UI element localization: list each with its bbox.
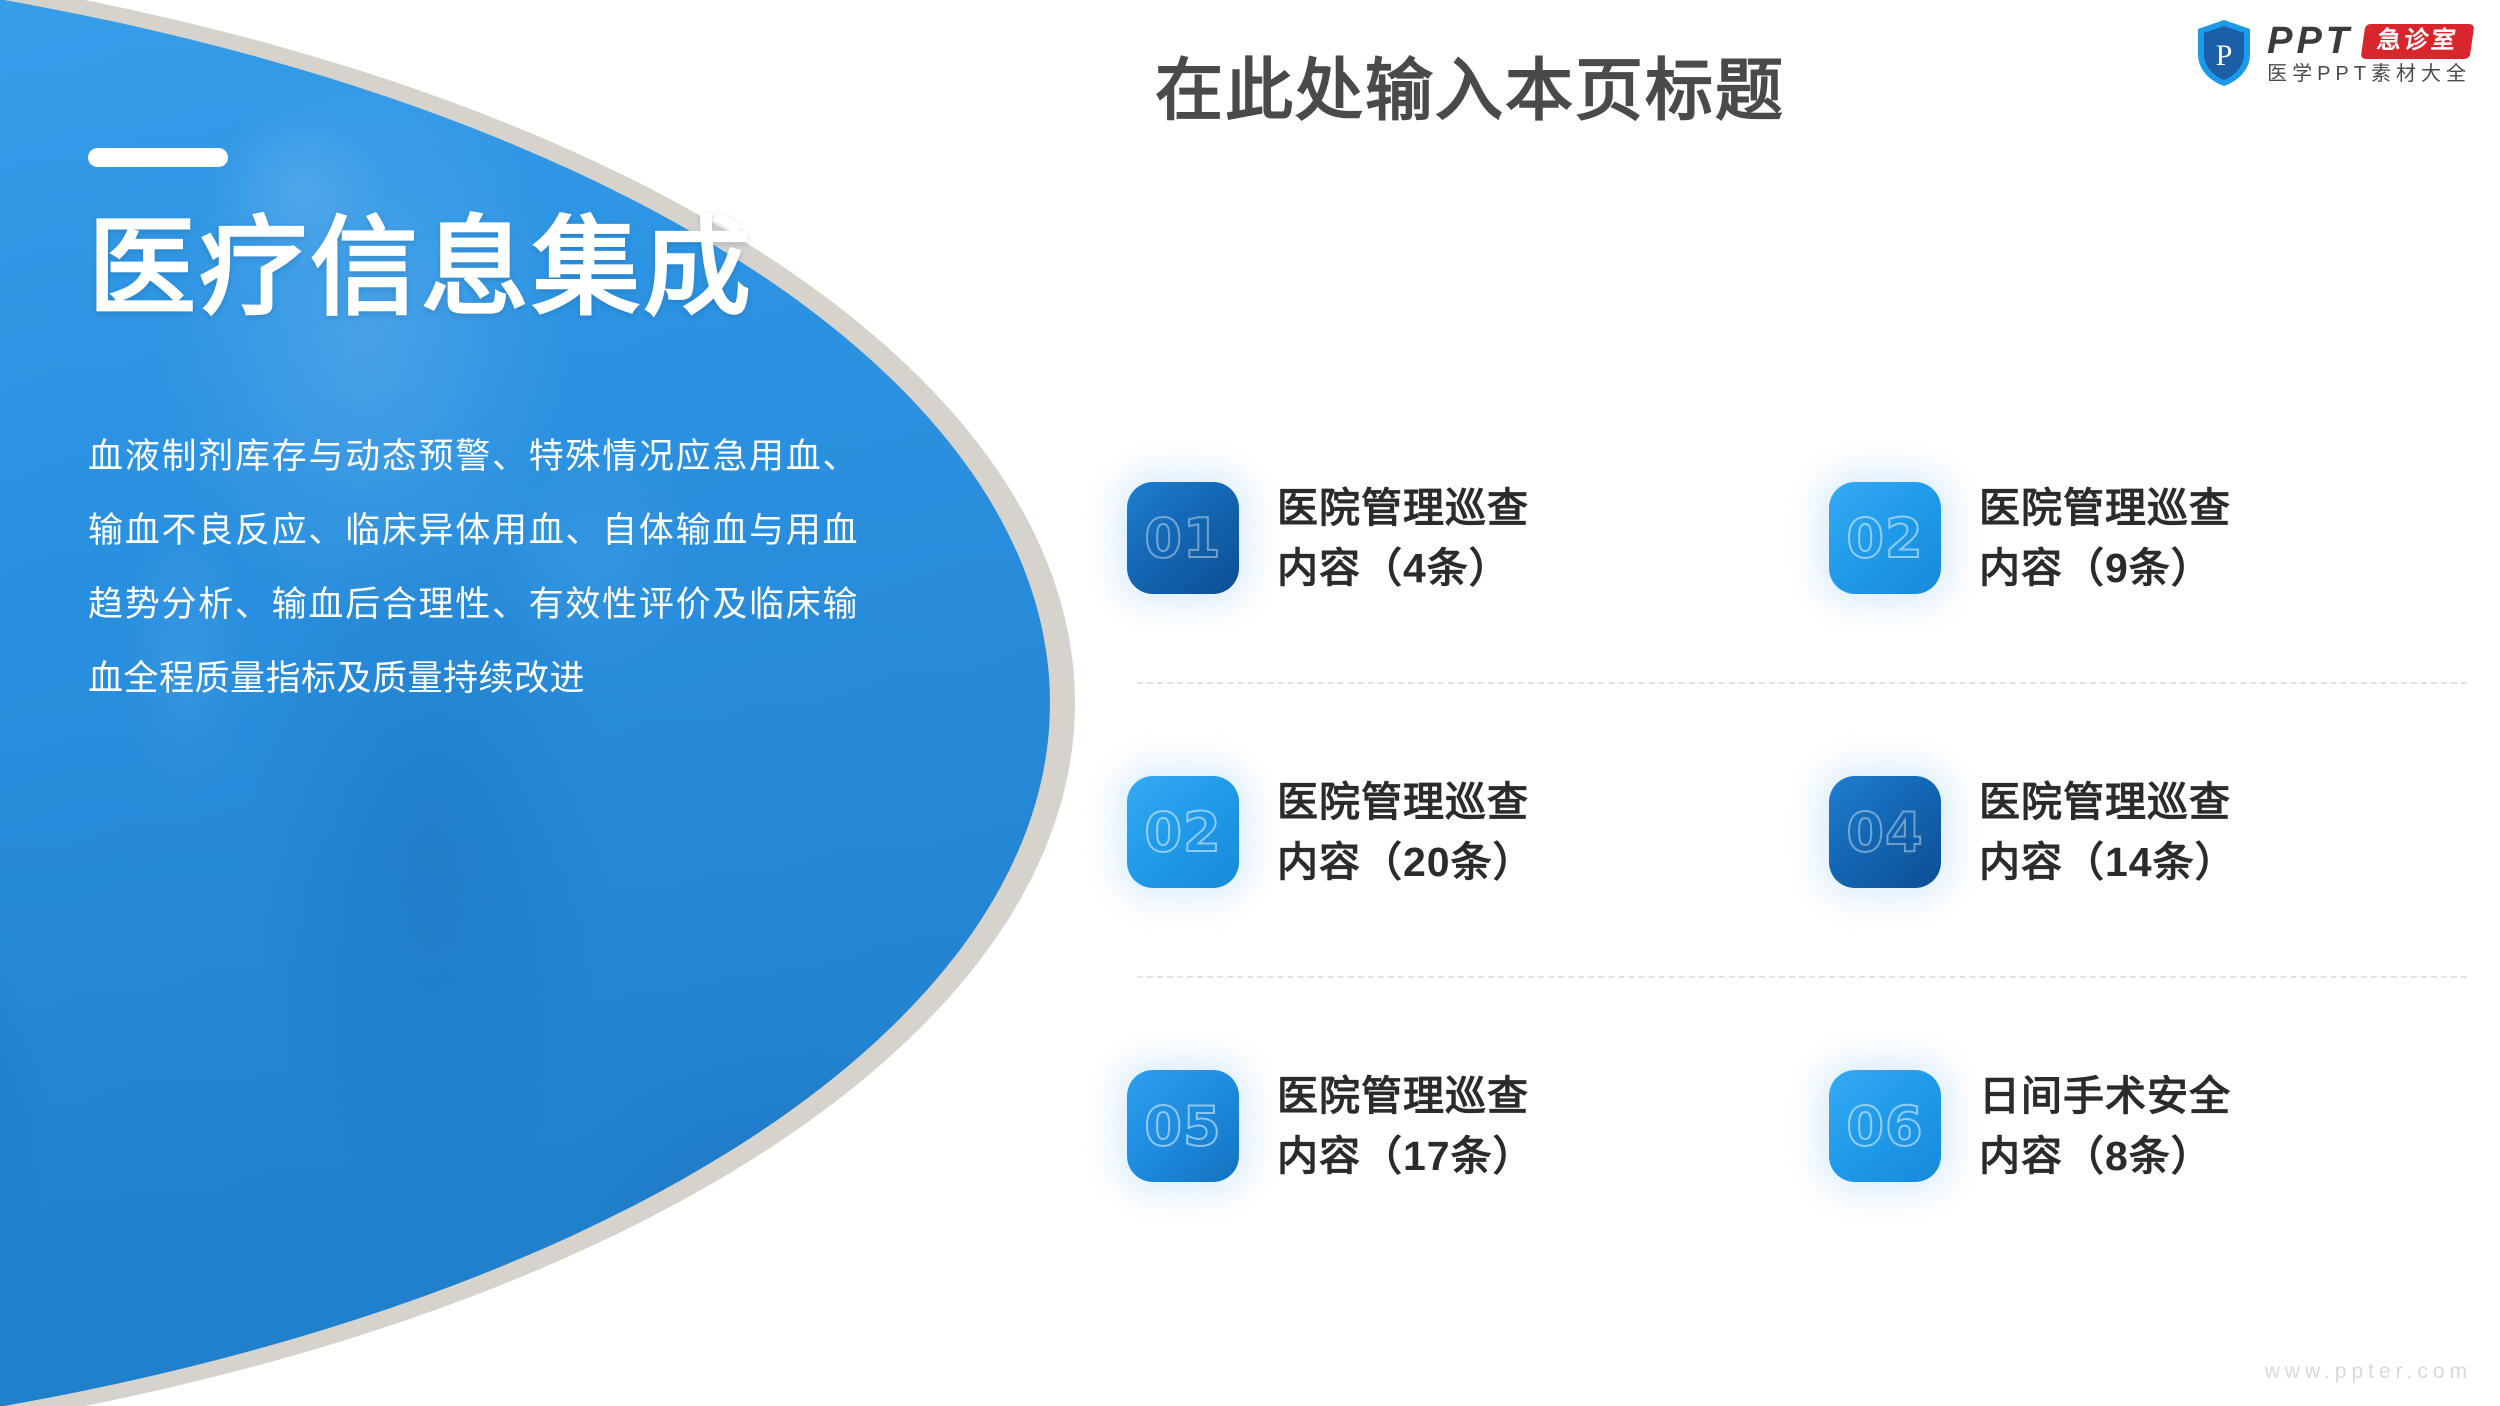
content-item[interactable]: 04 医院管理巡查 内容（14条） xyxy=(1777,682,2479,976)
item-number-badge: 04 xyxy=(1829,776,1941,888)
hero-description: 血液制剂库存与动态预警、特殊情况应急用血、输血不良反应、临床异体用血、自体输血与… xyxy=(88,420,858,716)
grid-row: 02 医院管理巡查 内容（20条） 04 医院管理巡查 内容（14条） xyxy=(1127,682,2479,976)
logo-text-block: PPT 急诊室 医学PPT素材大全 xyxy=(2267,22,2472,84)
grid-row: 05 医院管理巡查 内容（17条） 06 日间手术安全 内容（8条） xyxy=(1127,976,2479,1270)
left-panel-content: 医疗信息集成 血液制剂库存与动态预警、特殊情况应急用血、输血不良反应、临床异体用… xyxy=(88,0,988,1406)
item-number-badge: 02 xyxy=(1127,776,1239,888)
logo-badge-text: 急诊室 xyxy=(2361,24,2475,59)
content-item[interactable]: 02 医院管理巡查 内容（20条） xyxy=(1127,682,1777,976)
item-text: 医院管理巡查 内容（9条） xyxy=(1979,478,2231,598)
item-number-label: 01 xyxy=(1144,507,1221,570)
item-text: 日间手术安全 内容（8条） xyxy=(1979,1066,2231,1186)
item-number-label: 04 xyxy=(1846,801,1923,864)
item-line-1: 医院管理巡查 xyxy=(1277,779,1529,825)
item-line-1: 医院管理巡查 xyxy=(1979,779,2231,825)
item-number-label: 06 xyxy=(1846,1095,1923,1158)
item-line-2: 内容（17条） xyxy=(1277,1126,1535,1186)
item-line-2: 内容（8条） xyxy=(1979,1126,2231,1186)
item-line-1: 日间手术安全 xyxy=(1979,1073,2231,1119)
item-line-1: 医院管理巡查 xyxy=(1277,485,1529,531)
left-hero-panel: 医疗信息集成 血液制剂库存与动态预警、特殊情况应急用血、输血不良反应、临床异体用… xyxy=(0,0,1105,1406)
item-text: 医院管理巡查 内容（4条） xyxy=(1277,478,1529,598)
slide-canvas: 医疗信息集成 血液制剂库存与动态预警、特殊情况应急用血、输血不良反应、临床异体用… xyxy=(0,0,2500,1406)
item-line-1: 医院管理巡查 xyxy=(1277,1073,1529,1119)
logo-brand-text: PPT xyxy=(2267,22,2353,60)
item-line-2: 内容（20条） xyxy=(1277,832,1535,892)
item-number-badge: 06 xyxy=(1829,1070,1941,1182)
shield-icon: P xyxy=(2195,18,2253,88)
content-item[interactable]: 05 医院管理巡查 内容（17条） xyxy=(1127,976,1777,1270)
item-line-2: 内容（4条） xyxy=(1277,538,1529,598)
logo-primary-row: PPT 急诊室 xyxy=(2267,22,2472,60)
content-item[interactable]: 01 医院管理巡查 内容（4条） xyxy=(1127,388,1777,682)
item-number-label: 02 xyxy=(1846,507,1923,570)
content-item[interactable]: 02 医院管理巡查 内容（9条） xyxy=(1777,388,2479,682)
brand-logo: P PPT 急诊室 医学PPT素材大全 xyxy=(2195,12,2472,94)
item-text: 医院管理巡查 内容（17条） xyxy=(1277,1066,1535,1186)
item-text: 医院管理巡查 内容（20条） xyxy=(1277,772,1535,892)
item-number-badge: 02 xyxy=(1829,482,1941,594)
item-line-2: 内容（14条） xyxy=(1979,832,2237,892)
item-number-badge: 01 xyxy=(1127,482,1239,594)
item-text: 医院管理巡查 内容（14条） xyxy=(1979,772,2237,892)
content-item[interactable]: 06 日间手术安全 内容（8条） xyxy=(1777,976,2479,1270)
item-number-badge: 05 xyxy=(1127,1070,1239,1182)
item-number-label: 02 xyxy=(1144,801,1221,864)
grid-row: 01 医院管理巡查 内容（4条） 02 医院管理巡查 内容（9条） xyxy=(1127,388,2479,682)
item-line-2: 内容（9条） xyxy=(1979,538,2231,598)
logo-tagline: 医学PPT素材大全 xyxy=(2267,64,2472,84)
dash-accent-icon xyxy=(88,148,228,167)
item-line-1: 医院管理巡查 xyxy=(1979,485,2231,531)
svg-text:P: P xyxy=(2216,39,2233,72)
right-content-panel: P PPT 急诊室 医学PPT素材大全 在此处输入本页标题 01 xyxy=(1105,0,2500,1406)
content-item-grid: 01 医院管理巡查 内容（4条） 02 医院管理巡查 内容（9条） xyxy=(1127,388,2479,1270)
footer-watermark: www.ppter.com xyxy=(2265,1360,2472,1384)
item-number-label: 05 xyxy=(1144,1095,1221,1158)
hero-title: 医疗信息集成 xyxy=(88,214,754,322)
page-title: 在此处输入本页标题 xyxy=(1155,52,1785,130)
